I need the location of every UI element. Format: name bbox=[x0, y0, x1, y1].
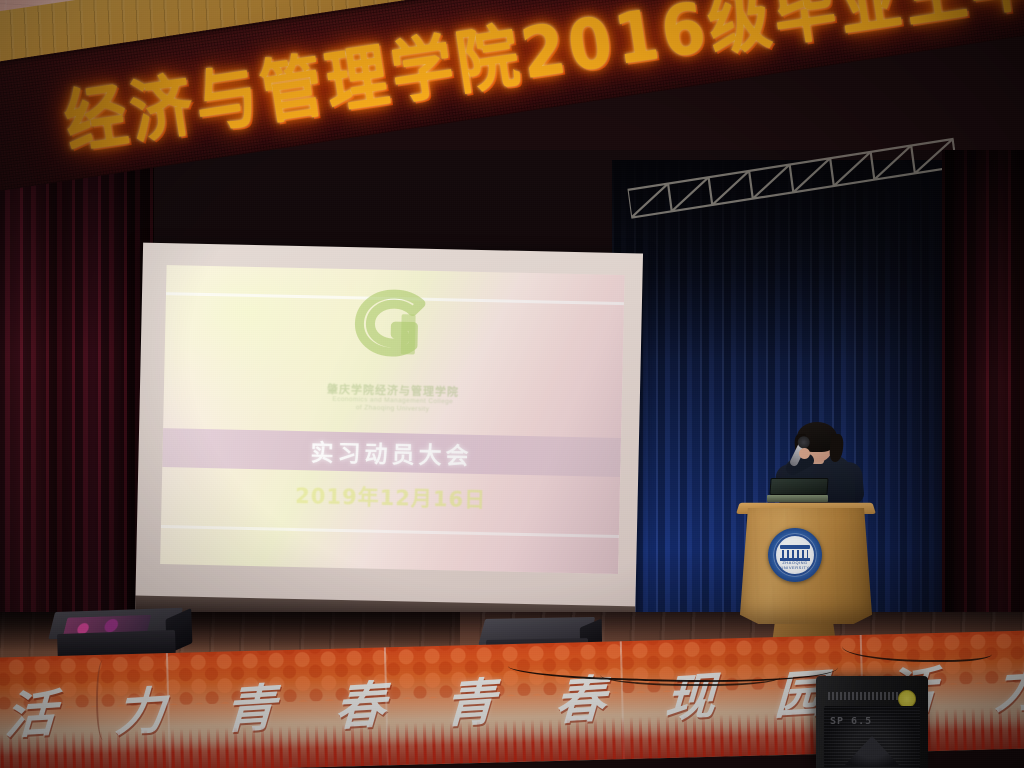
maroon-velvet-curtain-right bbox=[942, 150, 1024, 670]
audio-cable bbox=[600, 664, 780, 686]
speaker-top-marking bbox=[828, 692, 898, 700]
laptop-screen bbox=[769, 478, 828, 495]
seal-inner-ring: ZHAOQING UNIVERSITY bbox=[774, 534, 816, 576]
audio-cable bbox=[96, 660, 110, 740]
seal-arc-text: ZHAOQING UNIVERSITY bbox=[776, 560, 814, 570]
slide-decor-line-bottom bbox=[161, 525, 619, 538]
speaker-brand-text: SP 6.5 bbox=[830, 716, 872, 727]
curtain-shading bbox=[0, 155, 154, 655]
seal-columns bbox=[782, 550, 808, 558]
pa-tower-speaker: SP 6.5 bbox=[816, 676, 928, 768]
university-seal: ZHAOQING UNIVERSITY bbox=[768, 528, 822, 582]
projected-slide: 肇庆学院经济与管理学院 Economics and Management Col… bbox=[160, 265, 624, 574]
curtain-shading bbox=[942, 150, 1024, 670]
wooden-lectern: ZHAOQING UNIVERSITY bbox=[736, 498, 876, 658]
presenter-hand bbox=[799, 448, 810, 459]
seal-roof bbox=[780, 545, 810, 549]
projection-screen: 肇庆学院经济与管理学院 Economics and Management Col… bbox=[135, 243, 643, 629]
stage-wedge-monitor-left bbox=[51, 608, 181, 658]
university-g-logo-icon bbox=[351, 287, 439, 363]
slide-date: 2019年12月16日 bbox=[161, 477, 620, 517]
maroon-velvet-curtain-left bbox=[0, 155, 154, 655]
auditorium-stage-photo: 经济与管理学院2016级毕业生年级大会 肇庆学院经济与管理学院 Economic… bbox=[0, 0, 1024, 768]
